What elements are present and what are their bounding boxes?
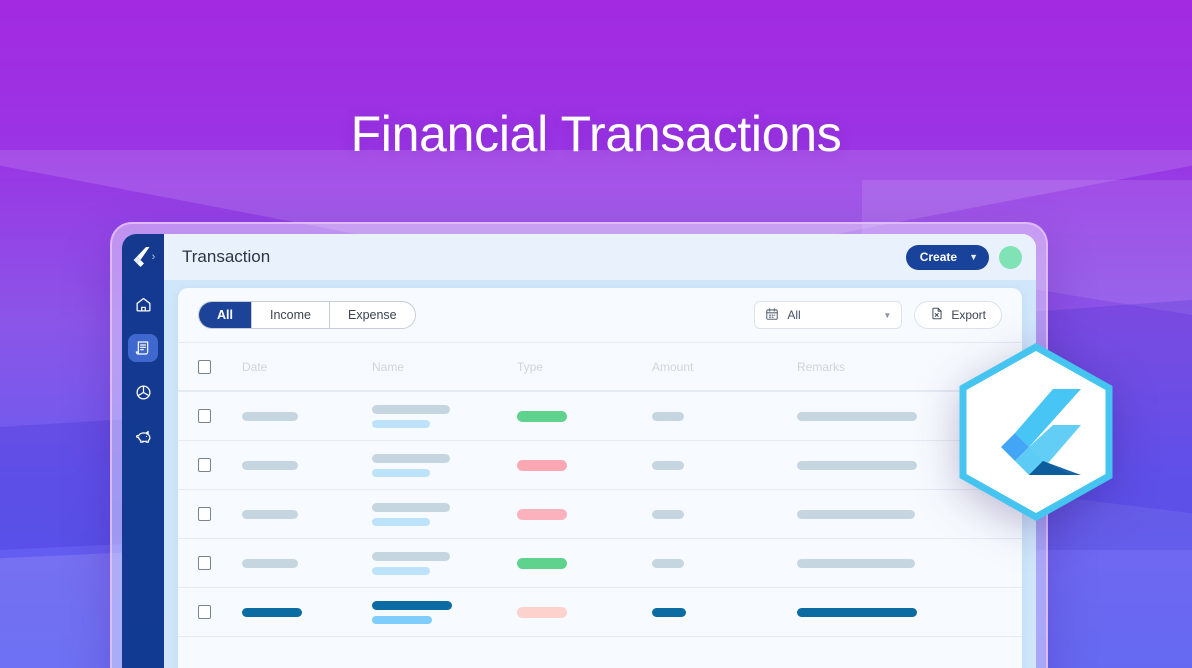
cell-name <box>372 552 517 575</box>
placeholder-bar <box>797 461 917 470</box>
placeholder-bar <box>372 567 430 575</box>
placeholder-bar <box>797 559 915 568</box>
table-header-row: Date Name Type Amount Remarks <box>178 342 1022 391</box>
flutter-hex-badge <box>957 343 1115 521</box>
receipt-icon <box>135 340 151 356</box>
placeholder-bar <box>242 608 302 617</box>
row-select-cell <box>198 507 242 521</box>
toolbar-right: All ▼ Export <box>754 301 1002 329</box>
row-checkbox[interactable] <box>198 556 211 570</box>
page-title: Transaction <box>182 247 270 267</box>
cell-date <box>242 559 372 568</box>
placeholder-bar <box>372 552 450 561</box>
select-all-checkbox[interactable] <box>198 360 211 374</box>
cell-date <box>242 510 372 519</box>
placeholder-bar <box>372 616 432 624</box>
create-button[interactable]: Create ▼ <box>906 245 989 270</box>
placeholder-bar <box>797 412 917 421</box>
top-bar-actions: Create ▼ <box>906 245 1022 270</box>
table-footer-spacer <box>178 636 1022 668</box>
export-file-icon <box>930 306 944 324</box>
export-button[interactable]: Export <box>914 301 1002 329</box>
cell-type <box>517 460 652 471</box>
placeholder-bar <box>242 461 298 470</box>
avatar[interactable] <box>999 246 1022 269</box>
date-filter-select[interactable]: All ▼ <box>754 301 902 329</box>
cell-name <box>372 405 517 428</box>
placeholder-bar <box>372 454 450 463</box>
row-checkbox[interactable] <box>198 458 211 472</box>
cell-name <box>372 503 517 526</box>
placeholder-bar <box>652 608 686 617</box>
tab-expense[interactable]: Expense <box>330 302 415 328</box>
table-row[interactable] <box>178 440 1022 489</box>
placeholder-bar <box>372 518 430 526</box>
cell-amount <box>652 461 797 470</box>
placeholder-bar <box>652 461 684 470</box>
table-row[interactable] <box>178 489 1022 538</box>
filter-segmented-control: All Income Expense <box>198 301 416 329</box>
placeholder-bar <box>652 559 684 568</box>
type-pill <box>517 509 567 520</box>
placeholder-bar <box>372 469 430 477</box>
placeholder-bar <box>797 510 915 519</box>
row-checkbox[interactable] <box>198 507 211 521</box>
row-checkbox[interactable] <box>198 605 211 619</box>
sidebar-item-transaction[interactable] <box>128 334 158 362</box>
sidebar-brand[interactable]: › <box>131 246 156 268</box>
placeholder-bar <box>372 420 430 428</box>
cell-date <box>242 608 372 617</box>
create-button-label: Create <box>920 250 957 264</box>
placeholder-bar <box>372 503 450 512</box>
chevron-right-icon: › <box>152 252 156 263</box>
pie-chart-icon <box>135 384 152 401</box>
placeholder-bar <box>652 412 684 421</box>
cell-amount <box>652 510 797 519</box>
cell-remarks <box>797 608 1002 617</box>
row-select-cell <box>198 409 242 423</box>
card-toolbar: All Income Expense <box>178 288 1022 342</box>
cell-date <box>242 461 372 470</box>
sidebar-item-statistics[interactable] <box>128 378 158 406</box>
placeholder-bar <box>797 608 917 617</box>
chevron-down-icon: ▼ <box>969 252 978 262</box>
cell-type <box>517 558 652 569</box>
placeholder-bar <box>242 510 298 519</box>
placeholder-bar <box>242 412 298 421</box>
cell-name <box>372 454 517 477</box>
table-row[interactable] <box>178 391 1022 440</box>
table-body <box>178 391 1022 636</box>
home-icon <box>135 296 152 313</box>
date-filter-value: All <box>787 308 800 322</box>
sidebar: › <box>122 234 164 668</box>
column-header-amount[interactable]: Amount <box>652 360 797 374</box>
row-select-cell <box>198 605 242 619</box>
app-window: › <box>122 234 1036 668</box>
cell-type <box>517 411 652 422</box>
cell-amount <box>652 412 797 421</box>
table-row[interactable] <box>178 587 1022 636</box>
column-header-date[interactable]: Date <box>242 360 372 374</box>
row-select-cell <box>198 556 242 570</box>
column-header-name[interactable]: Name <box>372 360 517 374</box>
row-checkbox[interactable] <box>198 409 211 423</box>
sidebar-item-home[interactable] <box>128 290 158 318</box>
row-select-cell <box>198 458 242 472</box>
cell-type <box>517 509 652 520</box>
cell-amount <box>652 608 797 617</box>
top-bar: Transaction Create ▼ <box>164 234 1036 280</box>
type-pill <box>517 558 567 569</box>
tab-all[interactable]: All <box>199 302 252 328</box>
piggy-bank-icon <box>135 428 152 445</box>
chevron-down-icon: ▼ <box>883 311 891 320</box>
sidebar-item-savings[interactable] <box>128 422 158 450</box>
cell-date <box>242 412 372 421</box>
placeholder-bar <box>242 559 298 568</box>
column-header-type[interactable]: Type <box>517 360 652 374</box>
flutter-logo-icon <box>131 246 150 268</box>
type-pill <box>517 607 567 618</box>
content-area: All Income Expense <box>164 280 1036 668</box>
select-all-cell <box>198 360 242 374</box>
page-headline: Financial Transactions <box>0 105 1192 163</box>
transactions-card: All Income Expense <box>178 288 1022 668</box>
main-panel: Transaction Create ▼ All Income Expense <box>164 234 1036 668</box>
export-button-label: Export <box>951 308 986 322</box>
table-row[interactable] <box>178 538 1022 587</box>
placeholder-bar <box>372 601 452 610</box>
calendar-icon <box>765 307 779 324</box>
type-pill <box>517 411 567 422</box>
type-pill <box>517 460 567 471</box>
cell-type <box>517 607 652 618</box>
cell-name <box>372 601 517 624</box>
cell-remarks <box>797 559 1002 568</box>
device-frame: › <box>110 222 1048 668</box>
transactions-table: Date Name Type Amount Remarks <box>178 342 1022 668</box>
placeholder-bar <box>372 405 450 414</box>
placeholder-bar <box>652 510 684 519</box>
cell-amount <box>652 559 797 568</box>
tab-income[interactable]: Income <box>252 302 330 328</box>
